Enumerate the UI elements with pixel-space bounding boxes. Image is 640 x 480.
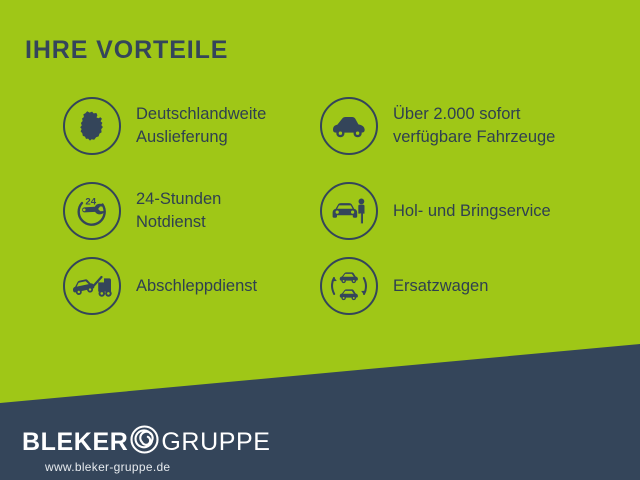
benefit-label: Über 2.000 sofort verfügbare Fahrzeuge [393, 103, 555, 149]
logo-primary-text: BLEKER [22, 430, 128, 455]
logo-secondary-text: GRUPPE [161, 430, 270, 455]
brand-logo: BLEKER GRUPPE [22, 425, 271, 459]
benefit-label: 24-Stunden Notdienst [136, 188, 221, 234]
website-url: www.bleker-gruppe.de [45, 461, 170, 473]
tow-truck-icon [63, 257, 121, 315]
svg-text:24: 24 [85, 197, 96, 208]
benefit-label: Deutschlandweite Auslieferung [136, 103, 266, 149]
benefit-label: Abschleppdienst [136, 275, 257, 298]
car-side-icon [320, 97, 378, 155]
benefit-item-verfuegbare-fahrzeuge: Über 2.000 sofort verfügbare Fahrzeuge [320, 97, 555, 155]
germany-map-icon [63, 97, 121, 155]
benefit-label: Ersatzwagen [393, 275, 488, 298]
benefit-item-deutschlandweite-auslieferung: Deutschlandweite Auslieferung [63, 97, 266, 155]
benefit-label: Hol- und Bringservice [393, 200, 551, 223]
benefit-item-24-stunden-notdienst: 24 24-Stunden Notdienst [63, 182, 221, 240]
benefit-item-hol-und-bringservice: Hol- und Bringservice [320, 182, 551, 240]
two-cars-exchange-icon [320, 257, 378, 315]
benefit-item-ersatzwagen: Ersatzwagen [320, 257, 488, 315]
diagonal-footer-band [0, 0, 640, 480]
spiral-o-icon [129, 424, 160, 460]
benefit-item-abschleppdienst: Abschleppdienst [63, 257, 257, 315]
car-and-person-icon [320, 182, 378, 240]
slide-canvas: IHRE VORTEILE Deutschlandweite Ausliefer… [0, 0, 640, 480]
24-hour-wrench-icon: 24 [63, 182, 121, 240]
page-title: IHRE VORTEILE [25, 38, 228, 63]
